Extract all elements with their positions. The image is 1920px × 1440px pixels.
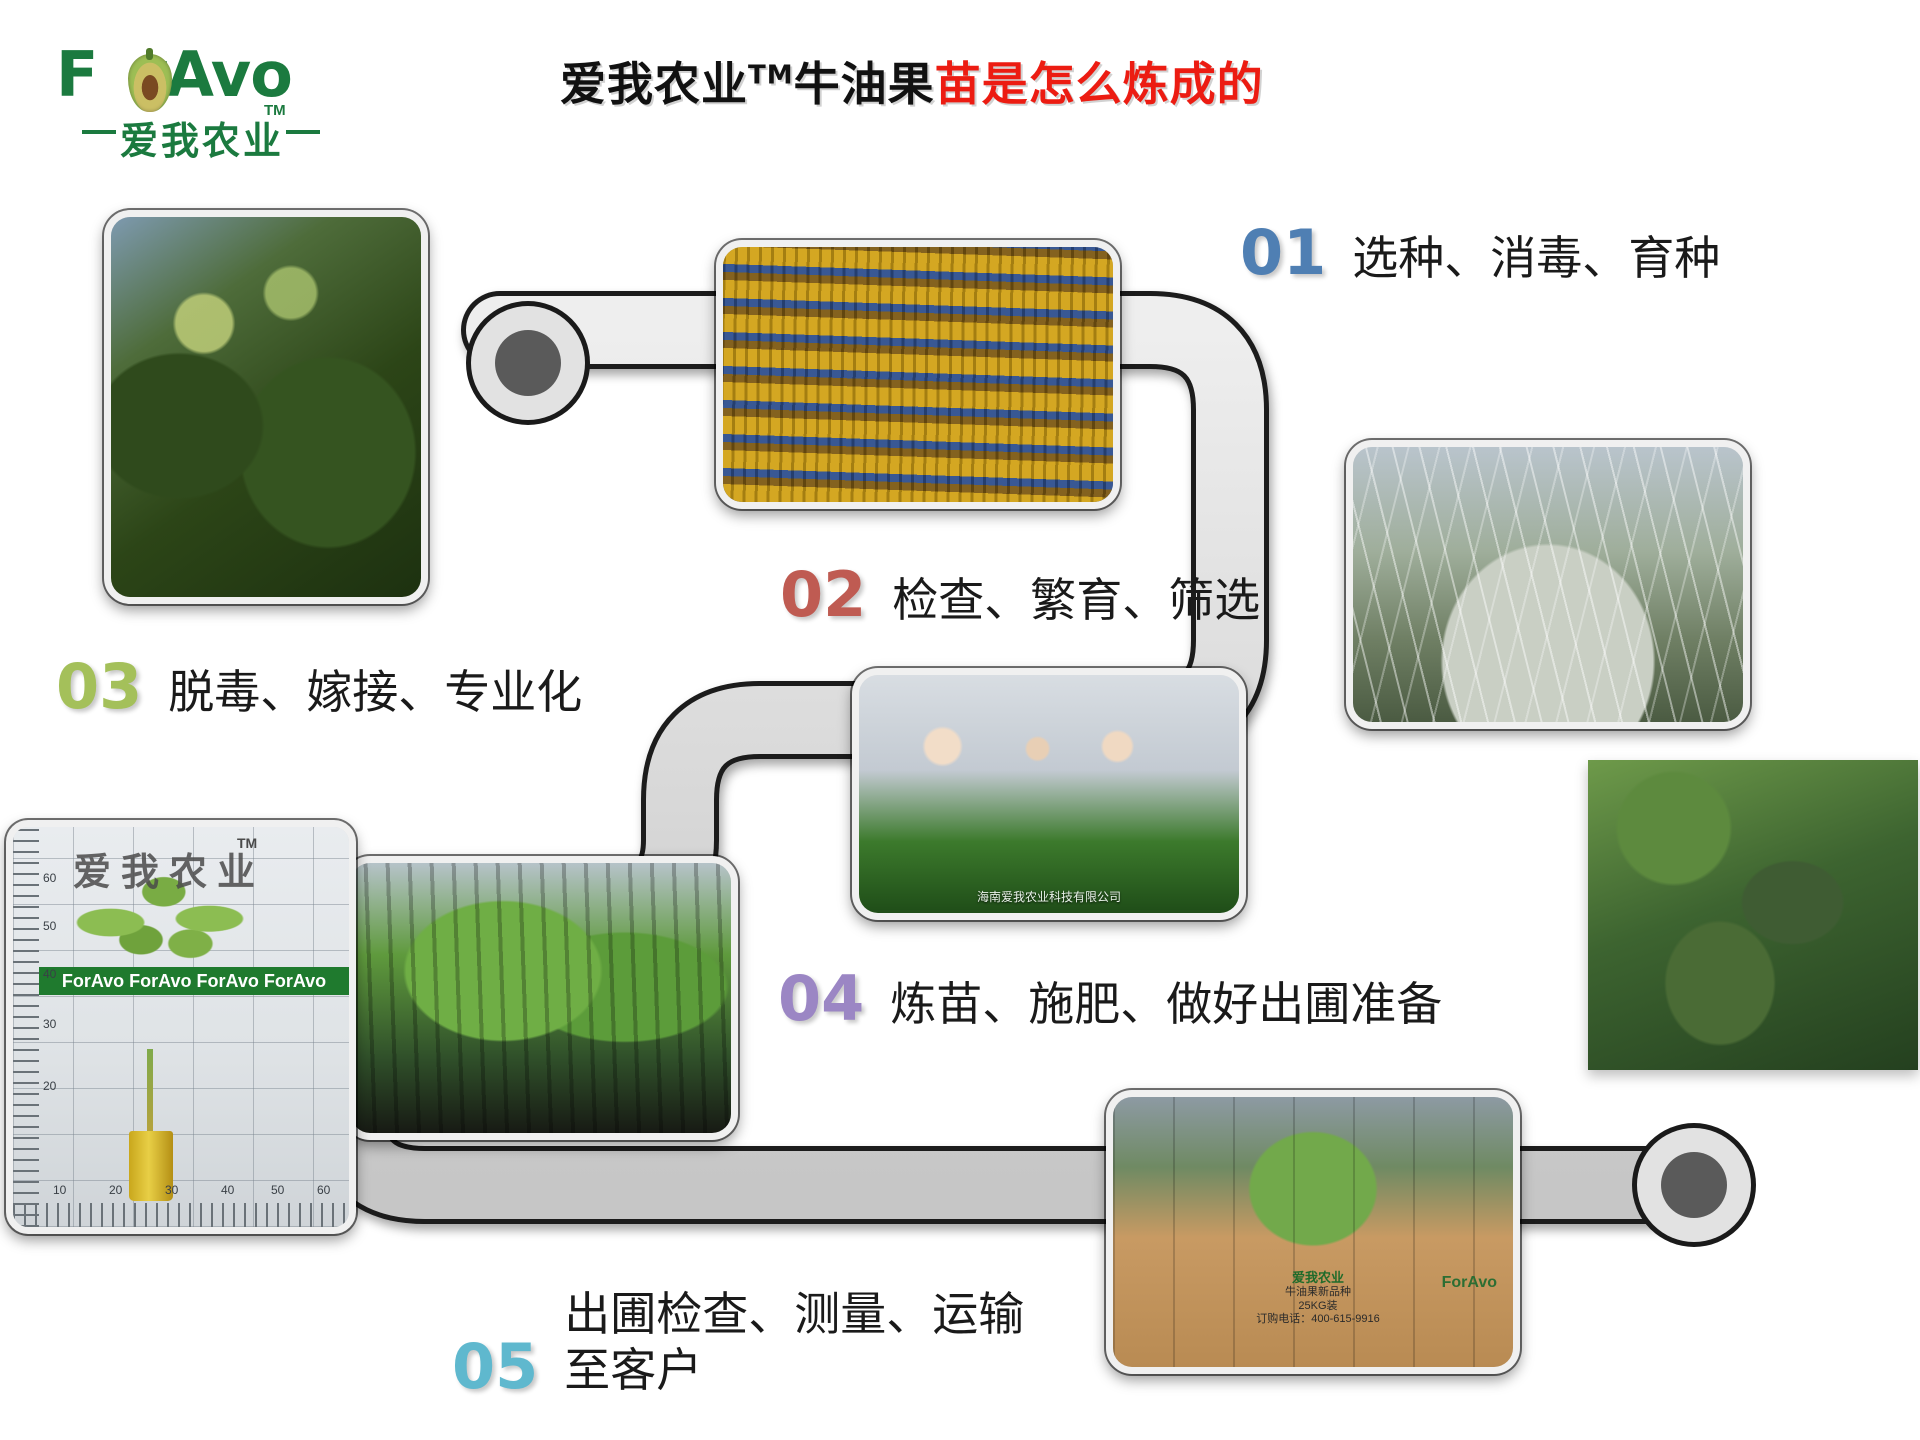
photo-potted-seedlings-image xyxy=(351,863,731,1133)
step-04-text: 炼苗、施肥、做好出圃准备 xyxy=(890,968,1442,1032)
photo-seed-trays xyxy=(716,240,1120,509)
title-tm: TM xyxy=(748,61,794,91)
brand-chinese-name: 爱我农业 xyxy=(120,110,284,165)
photo-seed-trays-image xyxy=(723,247,1113,502)
photo-greenhouse-propagation-image xyxy=(1353,447,1743,722)
photo-flowering-branch xyxy=(104,210,428,604)
measuring-left-scale xyxy=(13,827,39,1227)
box-brand-cn: 爱我农业 xyxy=(1253,1270,1383,1286)
scale-label-20: 20 xyxy=(43,1079,56,1093)
step-02-number: 02 xyxy=(780,564,866,626)
bottom-label-60: 60 xyxy=(317,1183,330,1197)
step-04-number: 04 xyxy=(778,968,864,1030)
bottom-label-40: 40 xyxy=(221,1183,234,1197)
step-05-text: 出圃检查、测量、运输 至客户 xyxy=(564,1286,1024,1398)
seedling-stem-icon xyxy=(147,1049,153,1135)
box-brand-label: 爱我农业 牛油果新品种 25KG装 订购电话：400-615-9916 xyxy=(1253,1270,1383,1328)
bottom-label-30: 30 xyxy=(165,1183,178,1197)
step-03: 03 脱毒、嫁接、专业化 xyxy=(56,656,582,720)
photo-flowering-branch-image xyxy=(111,217,421,597)
photo-measuring-board: 爱我农业 TM ForAvo ForAvo ForAvo ForAvo 60 5… xyxy=(6,820,356,1234)
brand-tm-mark: TM xyxy=(264,102,286,119)
photo-avocado-fruit xyxy=(1588,760,1918,1070)
measuring-bottom-scale xyxy=(13,1203,349,1227)
photo-avocado-fruit-image xyxy=(1588,760,1918,1070)
title-red-part: 苗是怎么炼成的 xyxy=(935,57,1264,111)
logo-rule-left xyxy=(82,130,116,134)
step-05: 05 出圃检查、测量、运输 至客户 xyxy=(452,1286,1024,1398)
step-01-number: 01 xyxy=(1240,222,1326,284)
photo-measuring-board-image: 爱我农业 TM ForAvo ForAvo ForAvo ForAvo 60 5… xyxy=(13,827,349,1227)
ribbon-end-node xyxy=(1632,1123,1756,1247)
step-05-line-2: 至客户 xyxy=(564,1342,1024,1398)
photo-staff-inspection-image: 海南爱我农业科技有限公司 xyxy=(859,675,1239,913)
step-04: 04 炼苗、施肥、做好出圃准备 xyxy=(778,968,1442,1032)
box-line-3: 订购电话：400-615-9916 xyxy=(1256,1313,1380,1325)
measuring-watermark-tm: TM xyxy=(237,835,257,851)
brand-wordmark: ForAvo xyxy=(56,38,292,111)
step-02-text: 检查、繁育、筛选 xyxy=(892,564,1260,628)
inspection-watermark: 海南爱我农业科技有限公司 xyxy=(859,888,1239,905)
brand-logo: ForAvo 爱我农业 TM xyxy=(48,30,318,150)
title-black-part: 爱我农业 xyxy=(560,57,748,111)
step-03-text: 脱毒、嫁接、专业化 xyxy=(168,656,582,720)
avocado-stem-icon xyxy=(146,48,153,60)
photo-greenhouse-propagation xyxy=(1346,440,1750,729)
measuring-brand-band: ForAvo ForAvo ForAvo ForAvo xyxy=(39,967,349,995)
scale-label-60: 60 xyxy=(43,871,56,885)
step-05-line-1: 出圃检查、测量、运输 xyxy=(564,1287,1024,1341)
step-01-text: 选种、消毒、育种 xyxy=(1352,222,1720,286)
box-side-brand: ForAvo xyxy=(1442,1273,1497,1293)
photo-staff-inspection: 海南爱我农业科技有限公司 xyxy=(852,668,1246,920)
step-02: 02 检查、繁育、筛选 xyxy=(780,564,1260,628)
step-01: 01 选种、消毒、育种 xyxy=(1240,222,1720,286)
box-line-1: 牛油果新品种 xyxy=(1285,1286,1351,1298)
photo-packing-boxes: 爱我农业 牛油果新品种 25KG装 订购电话：400-615-9916 ForA… xyxy=(1106,1090,1520,1374)
logo-rule-right xyxy=(286,130,320,134)
box-line-2: 25KG装 xyxy=(1298,1300,1337,1312)
page-title: 爱我农业TM牛油果苗是怎么炼成的 xyxy=(560,48,1460,114)
infographic-canvas: ForAvo 爱我农业 TM 爱我农业TM牛油果苗是怎么炼成的 海南爱我农业科技… xyxy=(0,0,1920,1440)
bottom-label-20: 20 xyxy=(109,1183,122,1197)
title-black-part2: 牛油果 xyxy=(794,57,935,111)
step-05-number: 05 xyxy=(452,1336,538,1398)
scale-label-30: 30 xyxy=(43,1017,56,1031)
scale-label-50: 50 xyxy=(43,919,56,933)
bottom-label-50: 50 xyxy=(271,1183,284,1197)
step-03-number: 03 xyxy=(56,656,142,718)
photo-potted-seedlings xyxy=(344,856,738,1140)
scale-label-40: 40 xyxy=(43,967,56,981)
photo-packing-boxes-image: 爱我农业 牛油果新品种 25KG装 订购电话：400-615-9916 ForA… xyxy=(1113,1097,1513,1367)
ribbon-start-node xyxy=(466,301,590,425)
bottom-label-10: 10 xyxy=(53,1183,66,1197)
